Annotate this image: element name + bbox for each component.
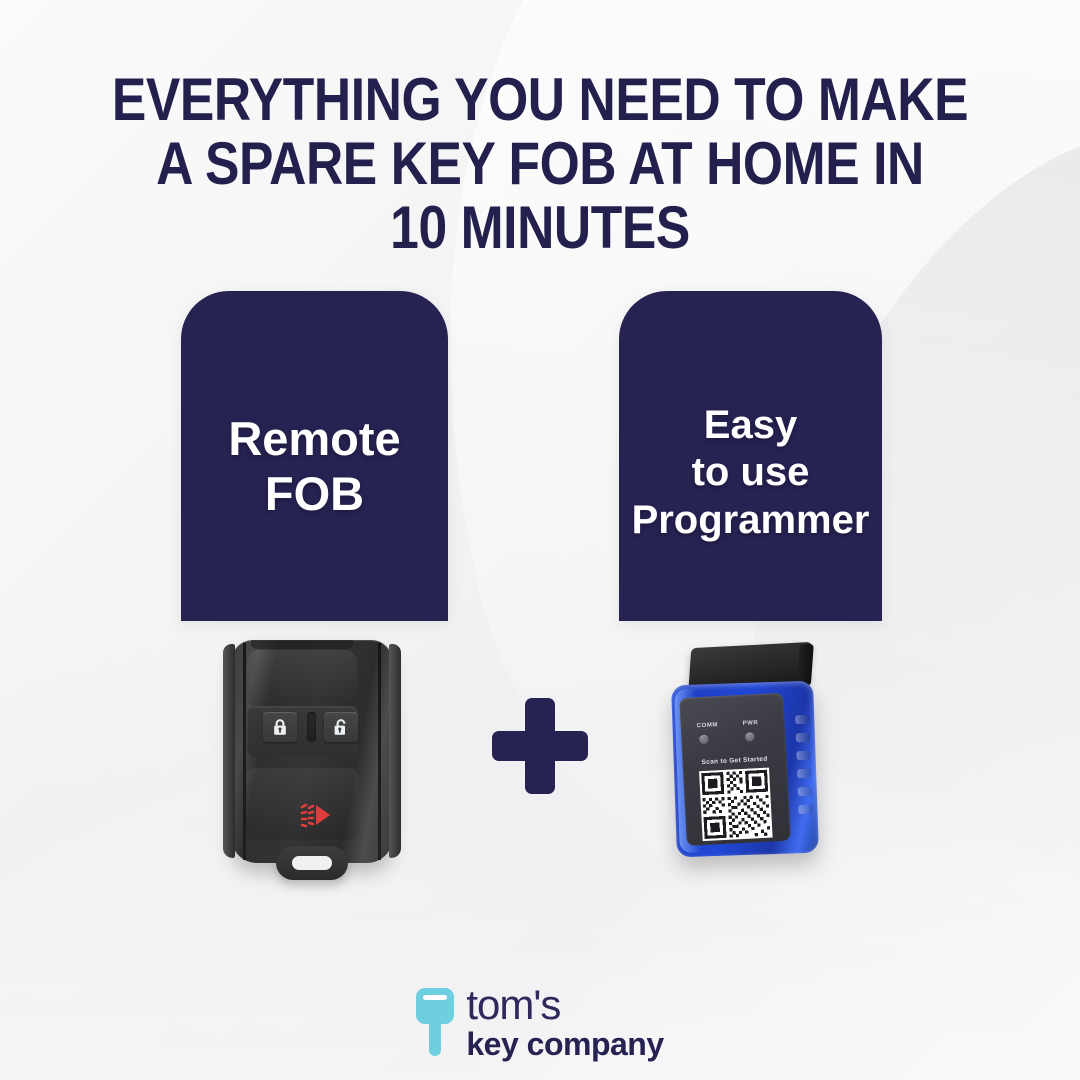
qr-code-graphic bbox=[701, 770, 770, 839]
programmer-rib bbox=[798, 805, 812, 814]
programmer-rib bbox=[797, 769, 811, 778]
product-card-remote-fob: Remote FOB bbox=[181, 291, 448, 621]
comm-led bbox=[699, 735, 708, 744]
brand-logo: tom's key company bbox=[0, 982, 1080, 1062]
qr-code bbox=[699, 768, 773, 842]
pwr-led bbox=[745, 732, 754, 741]
plus-icon bbox=[492, 698, 588, 794]
brand-name-line2: key company bbox=[466, 1028, 663, 1060]
brand-name-line1: tom's bbox=[466, 984, 663, 1026]
brand-wordmark: tom's key company bbox=[466, 984, 663, 1060]
key-fob-image bbox=[221, 640, 403, 880]
plus-icon-vertical-bar bbox=[525, 698, 555, 794]
key-fob-upper-panel bbox=[247, 650, 357, 708]
key-fob-middle-button bbox=[307, 712, 316, 742]
key-fob-right-edge bbox=[389, 644, 401, 858]
poster-canvas: EVERYTHING YOU NEED TO MAKE A SPARE KEY … bbox=[0, 0, 1080, 1080]
programmer-front-panel: COMM PWR Scan to Get Started bbox=[679, 693, 791, 846]
key-icon-stem bbox=[429, 1020, 441, 1056]
lock-button bbox=[263, 712, 297, 742]
unlock-icon bbox=[333, 718, 349, 736]
lock-icon bbox=[272, 718, 288, 736]
key-fob-left-edge bbox=[223, 644, 235, 858]
programmer-image: COMM PWR Scan to Get Started bbox=[660, 645, 840, 870]
key-icon bbox=[416, 988, 454, 1056]
page-title: EVERYTHING YOU NEED TO MAKE A SPARE KEY … bbox=[76, 68, 1005, 261]
product-card-label: Easy to use Programmer bbox=[632, 402, 870, 544]
key-fob-left-seam bbox=[243, 643, 246, 860]
panic-horn-icon bbox=[290, 802, 332, 828]
product-card-programmer: Easy to use Programmer bbox=[619, 291, 882, 621]
key-icon-head bbox=[416, 988, 454, 1024]
comm-led-label: COMM bbox=[697, 722, 719, 729]
pwr-led-label: PWR bbox=[742, 720, 758, 727]
key-icon-slot bbox=[423, 995, 447, 1000]
programmer-rib bbox=[796, 751, 810, 760]
programmer-rib bbox=[798, 787, 812, 796]
key-fob-keyring-loop bbox=[276, 846, 348, 880]
scan-instruction-label: Scan to Get Started bbox=[682, 755, 786, 767]
key-fob-right-seam bbox=[378, 643, 381, 860]
key-fob-top-notch bbox=[251, 640, 353, 649]
programmer-rib bbox=[795, 715, 809, 724]
panic-button bbox=[287, 800, 335, 830]
programmer-rib bbox=[796, 733, 810, 742]
unlock-button bbox=[324, 712, 358, 742]
product-card-label: Remote FOB bbox=[228, 411, 400, 522]
programmer-shell: COMM PWR Scan to Get Started bbox=[671, 681, 819, 858]
